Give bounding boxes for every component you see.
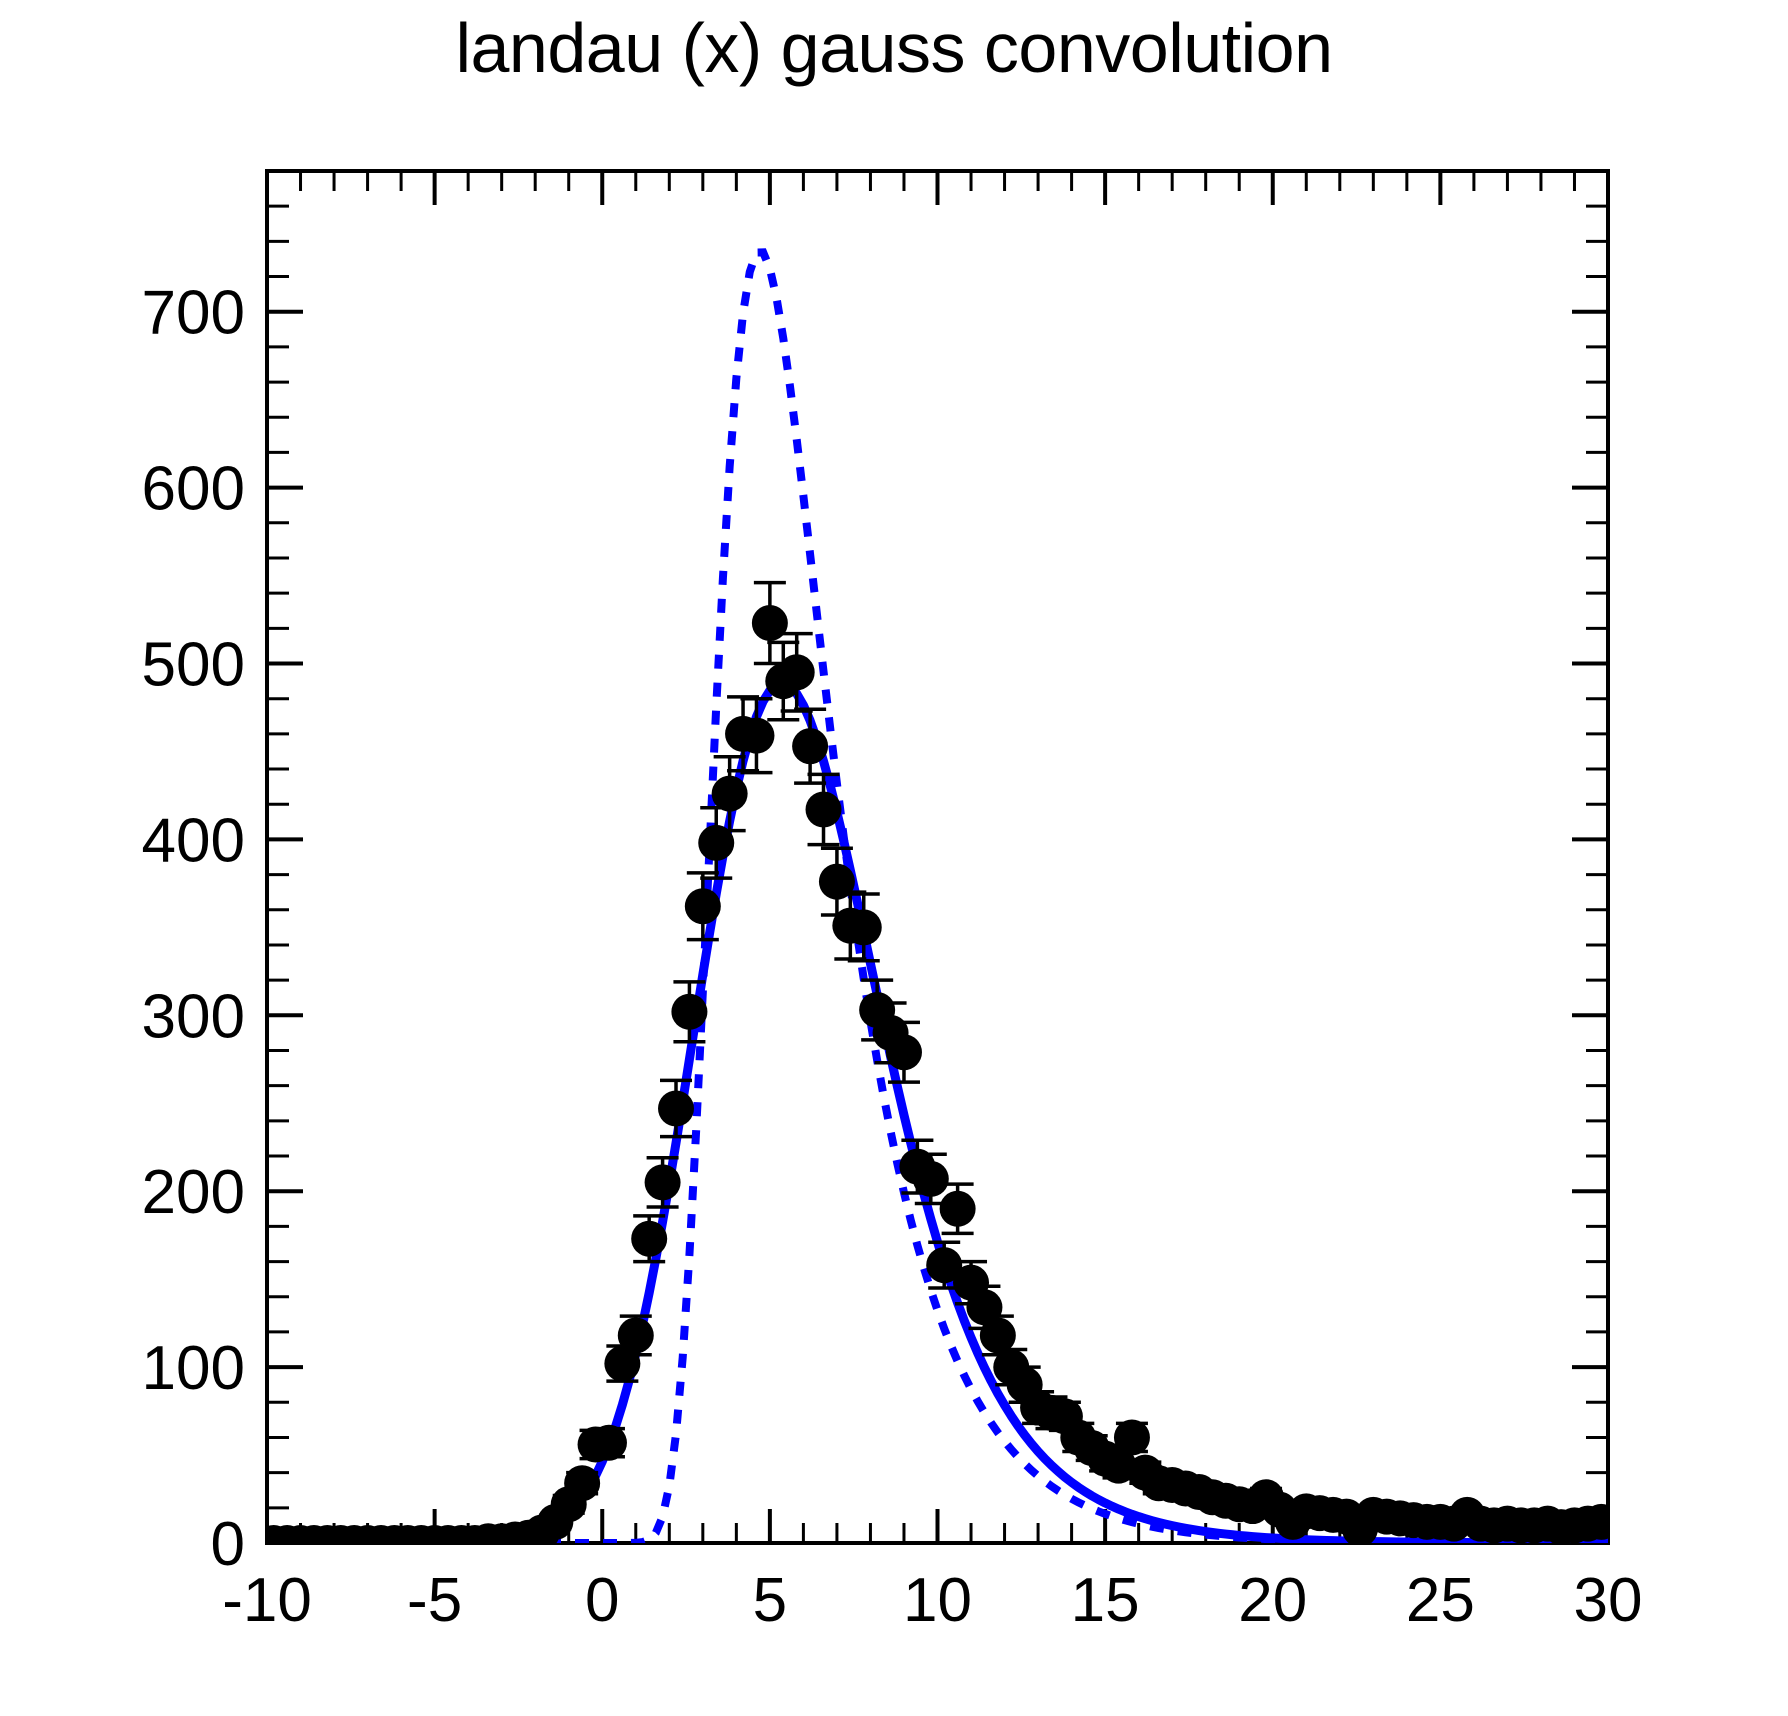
- y-tick-label: 200: [142, 1158, 245, 1227]
- x-tick-label: 30: [1574, 1566, 1643, 1635]
- plot-area: -10-5051015202530 0100200300400500600700: [0, 0, 1788, 1716]
- y-tick-label: 400: [142, 806, 245, 875]
- data-marker: [819, 864, 855, 900]
- y-tick-label: 300: [142, 982, 245, 1051]
- data-marker: [1114, 1419, 1150, 1455]
- data-marker: [846, 909, 882, 945]
- x-tick-label: 15: [1071, 1566, 1140, 1635]
- x-tick-label: 0: [585, 1566, 619, 1635]
- data-marker: [618, 1317, 654, 1353]
- data-marker: [752, 605, 788, 641]
- data-marker: [564, 1465, 600, 1501]
- landau-dotted-line: [267, 252, 1608, 1543]
- x-tick-label: -5: [407, 1566, 462, 1635]
- x-tick-label: 10: [903, 1566, 972, 1635]
- data-marker: [886, 1034, 922, 1070]
- data-marker: [738, 718, 774, 754]
- landau-curve: [267, 252, 1608, 1543]
- y-tick-label: 500: [142, 631, 245, 700]
- data-marker: [792, 728, 828, 764]
- data-marker: [712, 776, 748, 812]
- data-marker: [698, 825, 734, 861]
- y-tick-label: 100: [142, 1334, 245, 1403]
- data-marker: [631, 1221, 667, 1257]
- data-markers: [256, 605, 1620, 1561]
- convolution-solid-line: [267, 683, 1608, 1543]
- figure-canvas: landau (x) gauss convolution -10-5051015…: [0, 0, 1788, 1716]
- x-tick-label: 25: [1406, 1566, 1475, 1635]
- data-marker: [645, 1164, 681, 1200]
- frame-rect: [267, 171, 1608, 1543]
- data-marker: [1583, 1504, 1619, 1540]
- data-marker: [980, 1317, 1016, 1353]
- data-error-bars: [258, 583, 1618, 1545]
- data-marker: [913, 1161, 949, 1197]
- y-tick-label: 0: [211, 1510, 245, 1579]
- y-axis-tick-labels: 0100200300400500600700: [142, 279, 245, 1579]
- x-axis-tick-labels: -10-5051015202530: [222, 1566, 1642, 1635]
- x-tick-label: 20: [1238, 1566, 1307, 1635]
- y-tick-label: 600: [142, 455, 245, 524]
- data-marker: [685, 888, 721, 924]
- x-tick-label: 5: [753, 1566, 787, 1635]
- data-marker: [940, 1191, 976, 1227]
- data-marker: [779, 654, 815, 690]
- x-axis-ticks: [267, 171, 1608, 1543]
- data-marker: [591, 1425, 627, 1461]
- data-marker: [658, 1091, 694, 1127]
- axis-frame: [267, 171, 1608, 1543]
- y-axis-ticks: [267, 171, 1608, 1543]
- plot-svg: -10-5051015202530 0100200300400500600700: [0, 0, 1788, 1716]
- data-marker: [806, 792, 842, 828]
- landau-gauss-convolution-curve: [267, 683, 1608, 1543]
- data-marker: [671, 994, 707, 1030]
- y-tick-label: 700: [142, 279, 245, 348]
